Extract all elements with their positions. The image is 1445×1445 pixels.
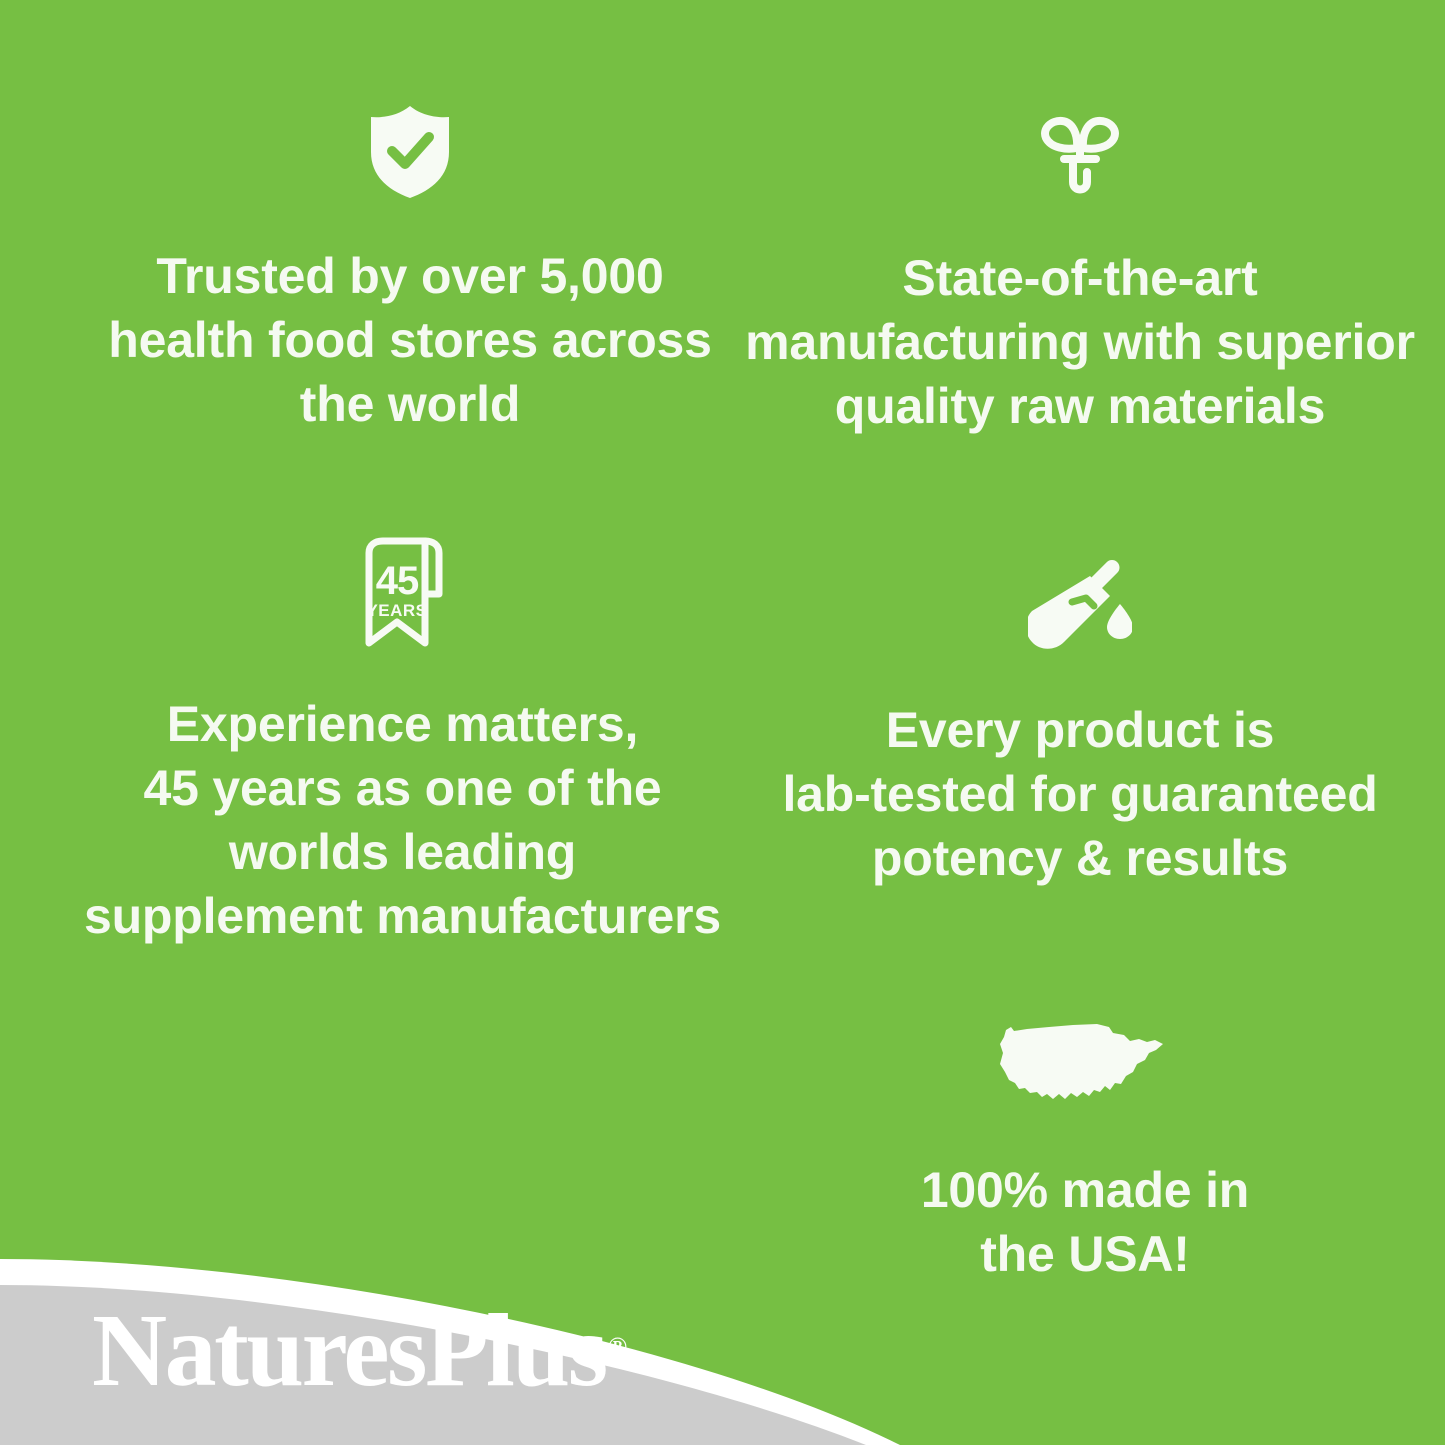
feature-trusted: Trusted by over 5,000 health food stores… <box>60 104 760 436</box>
feature-manufacturing: State-of-the-art manufacturing with supe… <box>730 104 1430 438</box>
ribbon-number: 45 <box>375 559 418 603</box>
bottom-banner: NaturesPlus® <box>0 1045 1445 1445</box>
sprout-icon <box>1033 104 1127 202</box>
shield-check-icon <box>368 104 452 200</box>
ribbon-caption: YEARS <box>366 601 427 620</box>
45-years-ribbon-icon: 45 YEARS <box>353 532 453 650</box>
test-tube-droplet-icon <box>1028 556 1132 652</box>
feature-experience-text: Experience matters, 45 years as one of t… <box>84 692 721 948</box>
feature-experience: 45 YEARS Experience matters, 45 years as… <box>45 532 760 948</box>
brand-logo: NaturesPlus® <box>92 1299 627 1403</box>
registered-trademark-icon: ® <box>608 1332 627 1361</box>
feature-labtested: Every product is lab-tested for guarante… <box>730 556 1430 890</box>
feature-labtested-text: Every product is lab-tested for guarante… <box>782 698 1377 890</box>
feature-manufacturing-text: State-of-the-art manufacturing with supe… <box>745 246 1415 438</box>
brand-logo-name: NaturesPlus <box>92 1293 606 1408</box>
brand-benefits-graphic: Trusted by over 5,000 health food stores… <box>0 0 1445 1445</box>
feature-trusted-text: Trusted by over 5,000 health food stores… <box>108 244 712 436</box>
